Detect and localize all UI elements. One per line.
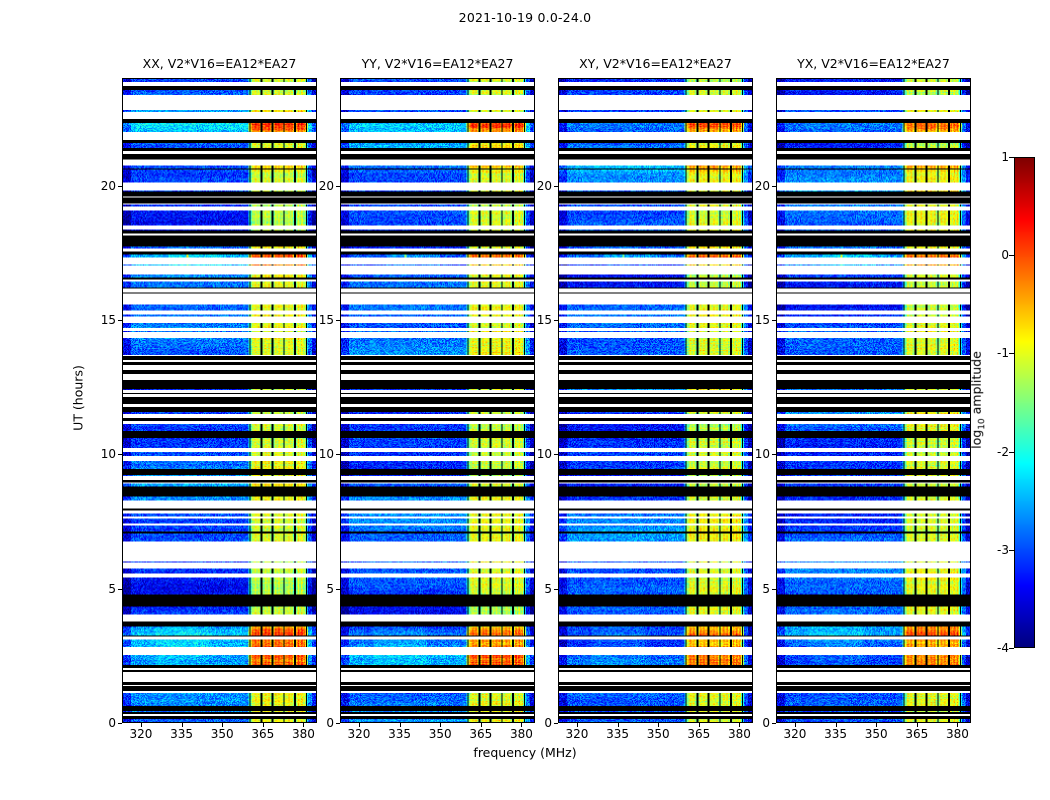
y-tick-mark xyxy=(772,320,776,321)
y-tick-mark xyxy=(118,589,122,590)
x-tick-label: 335 xyxy=(606,727,629,741)
x-tick-mark xyxy=(481,723,482,727)
y-tick-mark xyxy=(336,454,340,455)
x-tick-label: 335 xyxy=(170,727,193,741)
panel-title-yy: YY, V2*V16=EA12*EA27 xyxy=(340,56,535,74)
y-tick-label: 10 xyxy=(732,447,770,461)
y-tick-mark xyxy=(336,320,340,321)
y-tick-label: 10 xyxy=(78,447,116,461)
x-tick-label: 365 xyxy=(905,727,928,741)
y-tick-label: 20 xyxy=(514,179,552,193)
y-tick-label: 5 xyxy=(514,582,552,596)
x-tick-mark xyxy=(836,723,837,727)
y-tick-label: 20 xyxy=(732,179,770,193)
colorbar-tick-label: 1 xyxy=(985,150,1009,164)
x-tick-label: 335 xyxy=(824,727,847,741)
y-tick-mark xyxy=(336,186,340,187)
x-tick-mark xyxy=(917,723,918,727)
x-tick-label: 320 xyxy=(348,727,371,741)
y-tick-label: 0 xyxy=(296,716,334,730)
colorbar-tick-label: -3 xyxy=(985,543,1009,557)
x-tick-label: 320 xyxy=(130,727,153,741)
y-tick-label: 5 xyxy=(296,582,334,596)
y-tick-mark xyxy=(772,186,776,187)
x-tick-label: 350 xyxy=(211,727,234,741)
y-tick-mark xyxy=(336,589,340,590)
panel-title-xy: XY, V2*V16=EA12*EA27 xyxy=(558,56,753,74)
x-tick-mark xyxy=(141,723,142,727)
colorbar-tick-mark xyxy=(1009,648,1014,649)
y-axis-label: UT (hours) xyxy=(71,365,86,431)
y-tick-mark xyxy=(554,186,558,187)
colorbar-tick-mark xyxy=(1009,353,1014,354)
y-tick-label: 15 xyxy=(732,313,770,327)
colorbar-tick-mark xyxy=(1009,550,1014,551)
y-tick-label: 15 xyxy=(296,313,334,327)
colorbar-label-text: log xyxy=(969,430,984,449)
y-tick-mark xyxy=(772,454,776,455)
x-tick-mark xyxy=(440,723,441,727)
y-tick-label: 20 xyxy=(78,179,116,193)
y-tick-mark xyxy=(554,723,558,724)
waterfall-panel-xx xyxy=(122,78,317,723)
x-tick-label: 320 xyxy=(784,727,807,741)
y-tick-label: 0 xyxy=(514,716,552,730)
colorbar-label: log10 amplitude xyxy=(969,351,988,449)
x-tick-label: 350 xyxy=(865,727,888,741)
x-tick-mark xyxy=(795,723,796,727)
x-tick-label: 380 xyxy=(946,727,969,741)
x-tick-mark xyxy=(400,723,401,727)
y-tick-mark xyxy=(118,320,122,321)
panel-title-yx: YX, V2*V16=EA12*EA27 xyxy=(776,56,971,74)
y-tick-mark xyxy=(554,454,558,455)
y-tick-label: 10 xyxy=(296,447,334,461)
y-tick-label: 15 xyxy=(514,313,552,327)
colorbar-tick-label: -2 xyxy=(985,445,1009,459)
figure-suptitle: 2021-10-19 0.0-24.0 xyxy=(0,10,1050,25)
x-tick-label: 335 xyxy=(388,727,411,741)
colorbar-tick-mark xyxy=(1009,452,1014,453)
y-tick-mark xyxy=(554,320,558,321)
x-tick-mark xyxy=(957,723,958,727)
waterfall-panel-xy xyxy=(558,78,753,723)
x-tick-mark xyxy=(182,723,183,727)
y-tick-label: 0 xyxy=(78,716,116,730)
x-tick-label: 365 xyxy=(469,727,492,741)
y-tick-mark xyxy=(118,454,122,455)
x-tick-mark xyxy=(577,723,578,727)
y-tick-label: 15 xyxy=(78,313,116,327)
figure-canvas: 2021-10-19 0.0-24.0 XX, V2*V16=EA12*EA27… xyxy=(0,0,1050,800)
x-tick-label: 365 xyxy=(251,727,274,741)
y-tick-mark xyxy=(118,186,122,187)
y-tick-mark xyxy=(772,723,776,724)
y-tick-mark xyxy=(554,589,558,590)
colorbar xyxy=(1014,157,1035,648)
x-axis-label: frequency (MHz) xyxy=(473,745,576,760)
colorbar-tick-label: -4 xyxy=(985,641,1009,655)
waterfall-panel-yy xyxy=(340,78,535,723)
x-tick-label: 365 xyxy=(687,727,710,741)
colorbar-label-tail: amplitude xyxy=(969,351,984,418)
y-tick-label: 10 xyxy=(514,447,552,461)
colorbar-label-sub: 10 xyxy=(977,418,987,429)
colorbar-tick-label: 0 xyxy=(985,248,1009,262)
x-tick-mark xyxy=(658,723,659,727)
y-tick-mark xyxy=(118,723,122,724)
waterfall-panel-yx xyxy=(776,78,971,723)
colorbar-tick-mark xyxy=(1009,157,1014,158)
panel-title-xx: XX, V2*V16=EA12*EA27 xyxy=(122,56,317,74)
y-tick-mark xyxy=(772,589,776,590)
x-tick-mark xyxy=(263,723,264,727)
x-tick-mark xyxy=(618,723,619,727)
x-tick-mark xyxy=(359,723,360,727)
y-tick-mark xyxy=(336,723,340,724)
y-tick-label: 5 xyxy=(732,582,770,596)
colorbar-tick-mark xyxy=(1009,255,1014,256)
x-tick-label: 350 xyxy=(429,727,452,741)
colorbar-tick-label: -1 xyxy=(985,346,1009,360)
y-tick-label: 20 xyxy=(296,179,334,193)
x-tick-mark xyxy=(699,723,700,727)
y-tick-label: 5 xyxy=(78,582,116,596)
x-tick-mark xyxy=(222,723,223,727)
x-tick-label: 350 xyxy=(647,727,670,741)
y-tick-label: 0 xyxy=(732,716,770,730)
x-tick-mark xyxy=(876,723,877,727)
x-tick-label: 320 xyxy=(566,727,589,741)
